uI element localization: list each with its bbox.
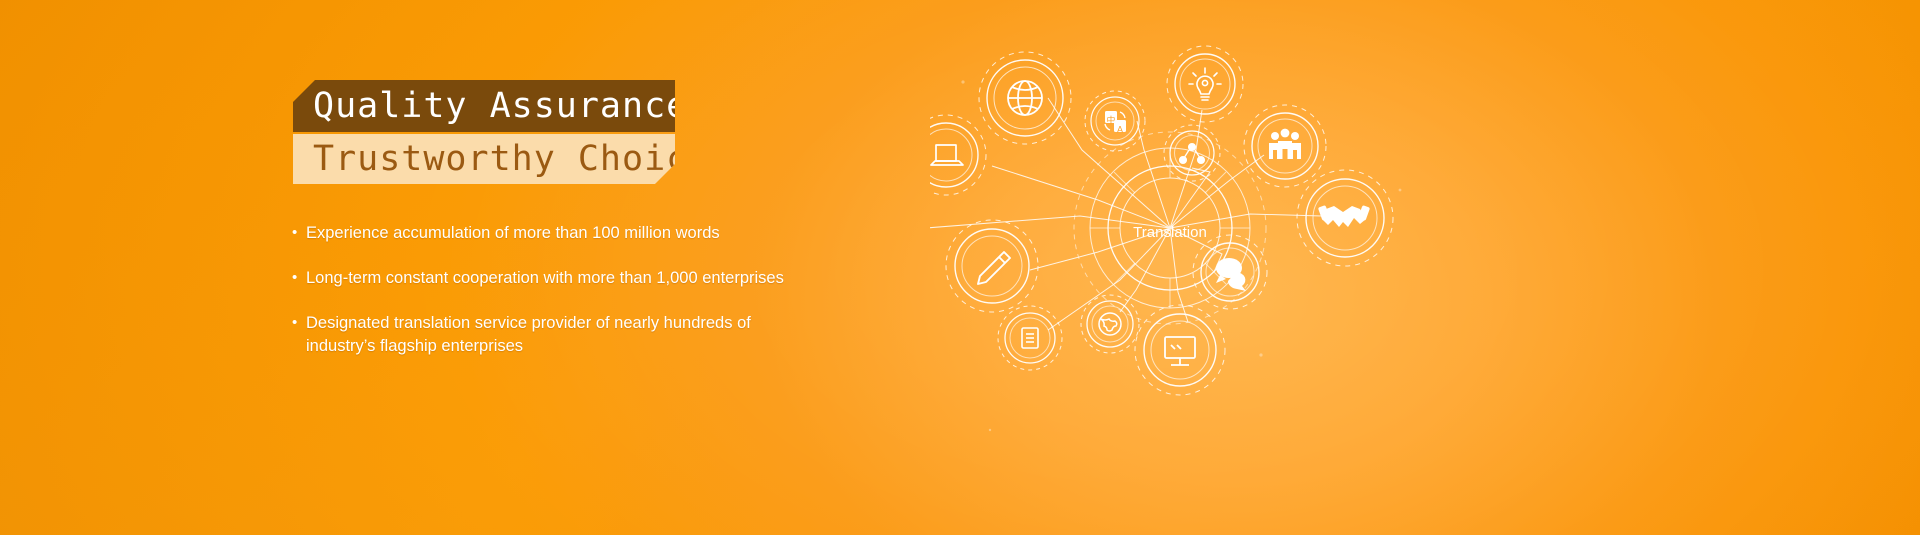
- node-globe[interactable]: [979, 52, 1071, 144]
- node-chat[interactable]: [1193, 235, 1267, 309]
- bullet-marker-icon: •: [292, 222, 306, 244]
- page-title-line-1: Quality Assurance: [313, 89, 688, 124]
- bullet-marker-icon: •: [292, 267, 306, 289]
- handshake-icon: [1318, 205, 1370, 227]
- list-item-label: Long-term constant cooperation with more…: [306, 267, 784, 290]
- node-pencil[interactable]: [946, 220, 1038, 312]
- node-people[interactable]: [1244, 105, 1326, 187]
- title-bar-secondary: Trustworthy Choice: [293, 134, 675, 184]
- list-item-label: Designated translation service provider …: [306, 312, 776, 358]
- feature-bullet-list: • Experience accumulation of more than 1…: [292, 222, 852, 380]
- list-item: • Long-term constant cooperation with mo…: [292, 267, 852, 290]
- globe-icon: [1008, 81, 1042, 115]
- lightbulb-icon: [1189, 68, 1221, 100]
- translation-network-diagram: Translation: [930, 0, 1590, 535]
- svg-text:A: A: [1117, 124, 1123, 134]
- translate-icon: 中 A: [1105, 111, 1126, 134]
- node-monitor[interactable]: [1135, 305, 1225, 395]
- list-item: • Experience accumulation of more than 1…: [292, 222, 852, 245]
- node-translate[interactable]: 中 A: [1085, 91, 1145, 151]
- page-title-line-2: Trustworthy Choice: [313, 142, 710, 177]
- monitor-icon: [1165, 337, 1195, 365]
- node-document[interactable]: [998, 306, 1062, 370]
- hub-label: Translation: [1133, 224, 1207, 241]
- list-item: • Designated translation service provide…: [292, 312, 852, 358]
- node-earth[interactable]: [1081, 295, 1139, 353]
- node-handshake[interactable]: [1297, 170, 1393, 266]
- document-list-icon: [1022, 328, 1038, 348]
- laptop-icon: [931, 145, 963, 165]
- title-bar-primary: Quality Assurance: [293, 80, 675, 132]
- earth-icon: [1099, 313, 1121, 335]
- node-lightbulb[interactable]: [1167, 46, 1243, 122]
- list-item-label: Experience accumulation of more than 100…: [306, 222, 720, 245]
- people-group-icon: [1269, 129, 1301, 159]
- pencil-icon: [978, 252, 1010, 284]
- title-block: Quality Assurance Trustworthy Choice: [293, 80, 675, 184]
- bullet-marker-icon: •: [292, 312, 306, 334]
- node-laptop[interactable]: [930, 115, 986, 195]
- promotional-banner: Quality Assurance Trustworthy Choice • E…: [0, 0, 1920, 535]
- node-share[interactable]: [1164, 125, 1220, 181]
